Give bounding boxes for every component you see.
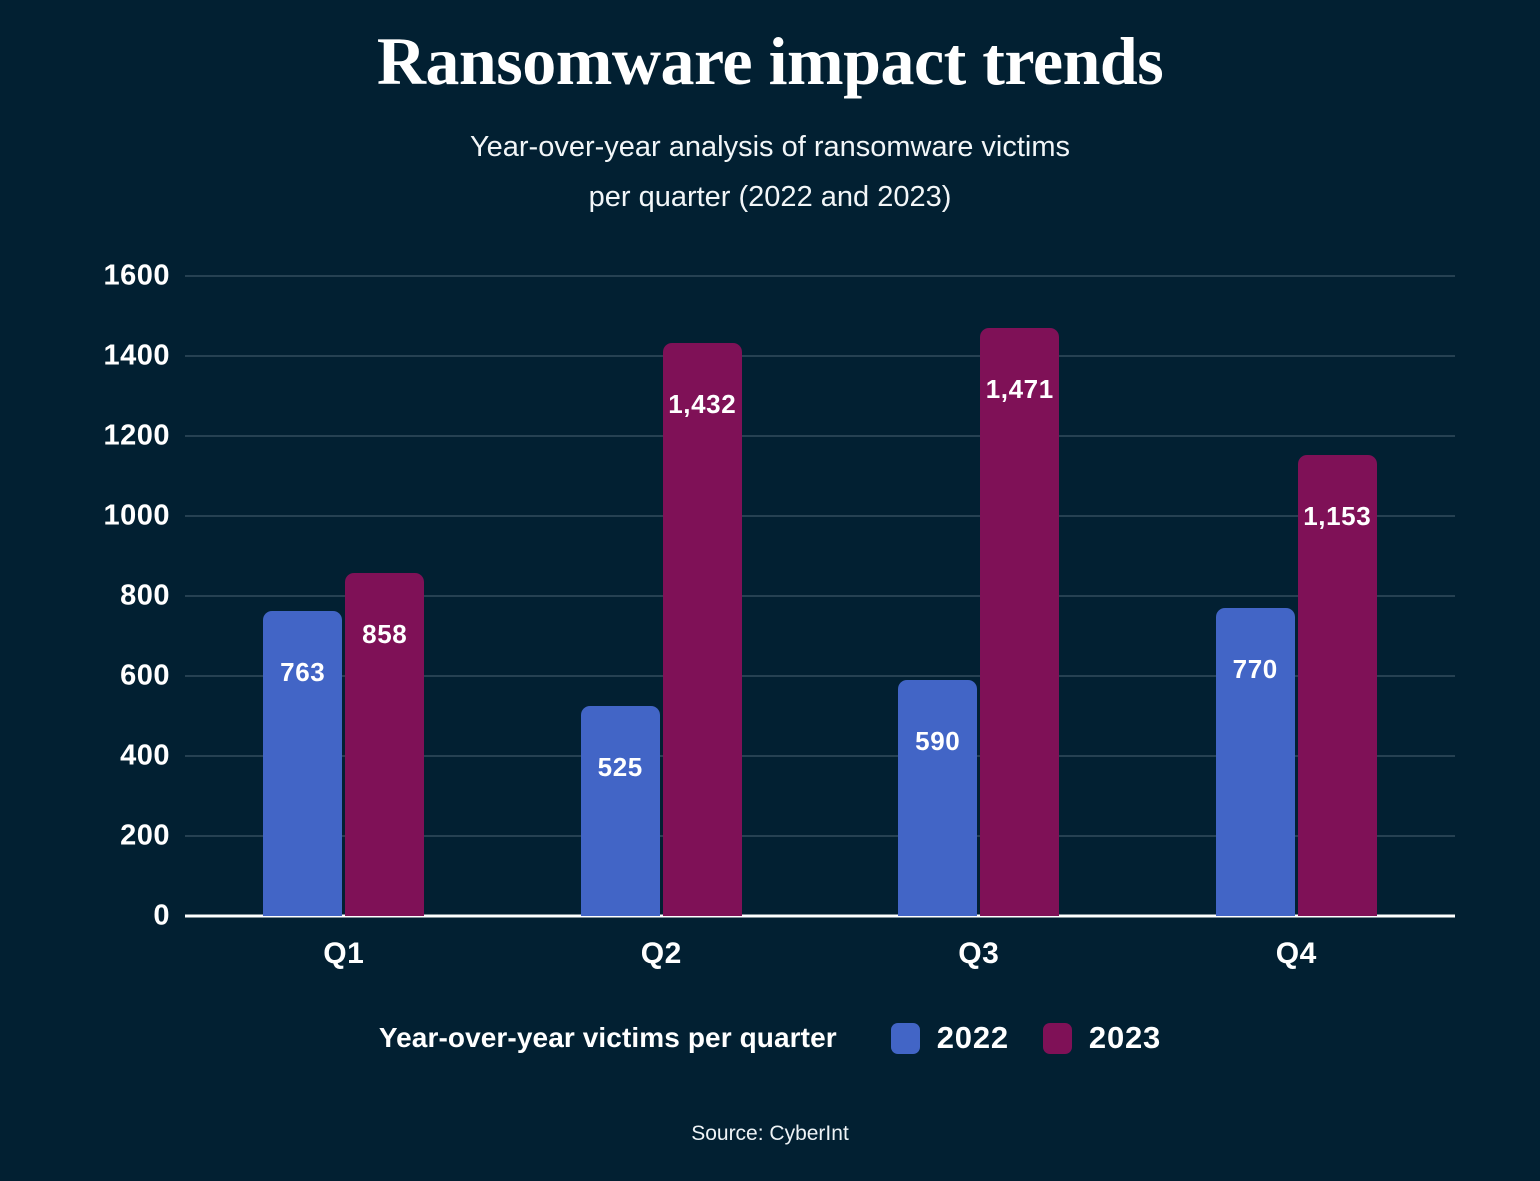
y-axis-tick-label: 1400 xyxy=(0,340,170,373)
bar-value-label: 590 xyxy=(898,726,977,757)
y-axis-tick-label: 1000 xyxy=(0,500,170,533)
bars-layer: 7638585251,4325901,4717701,153 xyxy=(185,276,1455,916)
y-axis-tick-label: 200 xyxy=(0,820,170,853)
bar-value-label: 770 xyxy=(1216,654,1295,685)
legend-title: Year-over-year victims per quarter xyxy=(379,1022,837,1054)
x-axis-tick-q2: Q2 xyxy=(581,937,741,971)
source-note: Source: CyberInt xyxy=(0,1122,1540,1146)
legend-items: 20222023 xyxy=(891,1020,1161,1056)
legend-swatch-icon xyxy=(891,1023,920,1054)
bar-value-label: 1,432 xyxy=(663,389,742,420)
bar-q3-2023[interactable]: 1,471 xyxy=(980,328,1059,916)
bar-value-label: 525 xyxy=(581,752,660,783)
bar-value-label: 1,471 xyxy=(980,374,1059,405)
bar-value-label: 1,153 xyxy=(1298,501,1377,532)
chart-header: Ransomware impact trends Year-over-year … xyxy=(0,0,1540,223)
bar-q2-2023[interactable]: 1,432 xyxy=(663,343,742,916)
bar-q2-2022[interactable]: 525 xyxy=(581,706,660,916)
x-axis: Q1Q2Q3Q4 xyxy=(185,937,1455,981)
bar-group: 763858 xyxy=(263,276,424,916)
subtitle-line-2: per quarter (2022 and 2023) xyxy=(0,173,1540,223)
y-axis-tick-label: 1600 xyxy=(0,260,170,293)
y-axis-tick-label: 1200 xyxy=(0,420,170,453)
bar-group: 7701,153 xyxy=(1216,276,1377,916)
chart-subtitle: Year-over-year analysis of ransomware vi… xyxy=(0,123,1540,223)
bar-q4-2022[interactable]: 770 xyxy=(1216,608,1295,916)
legend-label: 2023 xyxy=(1089,1020,1161,1056)
legend-item-2022[interactable]: 2022 xyxy=(891,1020,1009,1056)
x-axis-tick-q1: Q1 xyxy=(264,937,424,971)
legend-label: 2022 xyxy=(937,1020,1009,1056)
chart-legend: Year-over-year victims per quarter 20222… xyxy=(0,1020,1540,1056)
bar-q4-2023[interactable]: 1,153 xyxy=(1298,455,1377,916)
y-axis: 02004006008001000120014001600 xyxy=(0,276,170,916)
y-axis-tick-label: 600 xyxy=(0,660,170,693)
subtitle-line-1: Year-over-year analysis of ransomware vi… xyxy=(0,123,1540,173)
bar-q1-2022[interactable]: 763 xyxy=(263,611,342,916)
bar-value-label: 858 xyxy=(345,619,424,650)
bar-group: 5251,432 xyxy=(581,276,742,916)
bar-q1-2023[interactable]: 858 xyxy=(345,573,424,916)
x-axis-tick-q4: Q4 xyxy=(1216,937,1376,971)
legend-swatch-icon xyxy=(1043,1023,1072,1054)
bar-group: 5901,471 xyxy=(898,276,1059,916)
legend-item-2023[interactable]: 2023 xyxy=(1043,1020,1161,1056)
y-axis-tick-label: 0 xyxy=(0,900,170,933)
y-axis-tick-label: 400 xyxy=(0,740,170,773)
page-title: Ransomware impact trends xyxy=(0,26,1540,97)
bar-value-label: 763 xyxy=(263,657,342,688)
x-axis-tick-q3: Q3 xyxy=(899,937,1059,971)
chart-plot-area: 02004006008001000120014001600 7638585251… xyxy=(0,276,1540,916)
y-axis-tick-label: 800 xyxy=(0,580,170,613)
bar-q3-2022[interactable]: 590 xyxy=(898,680,977,916)
